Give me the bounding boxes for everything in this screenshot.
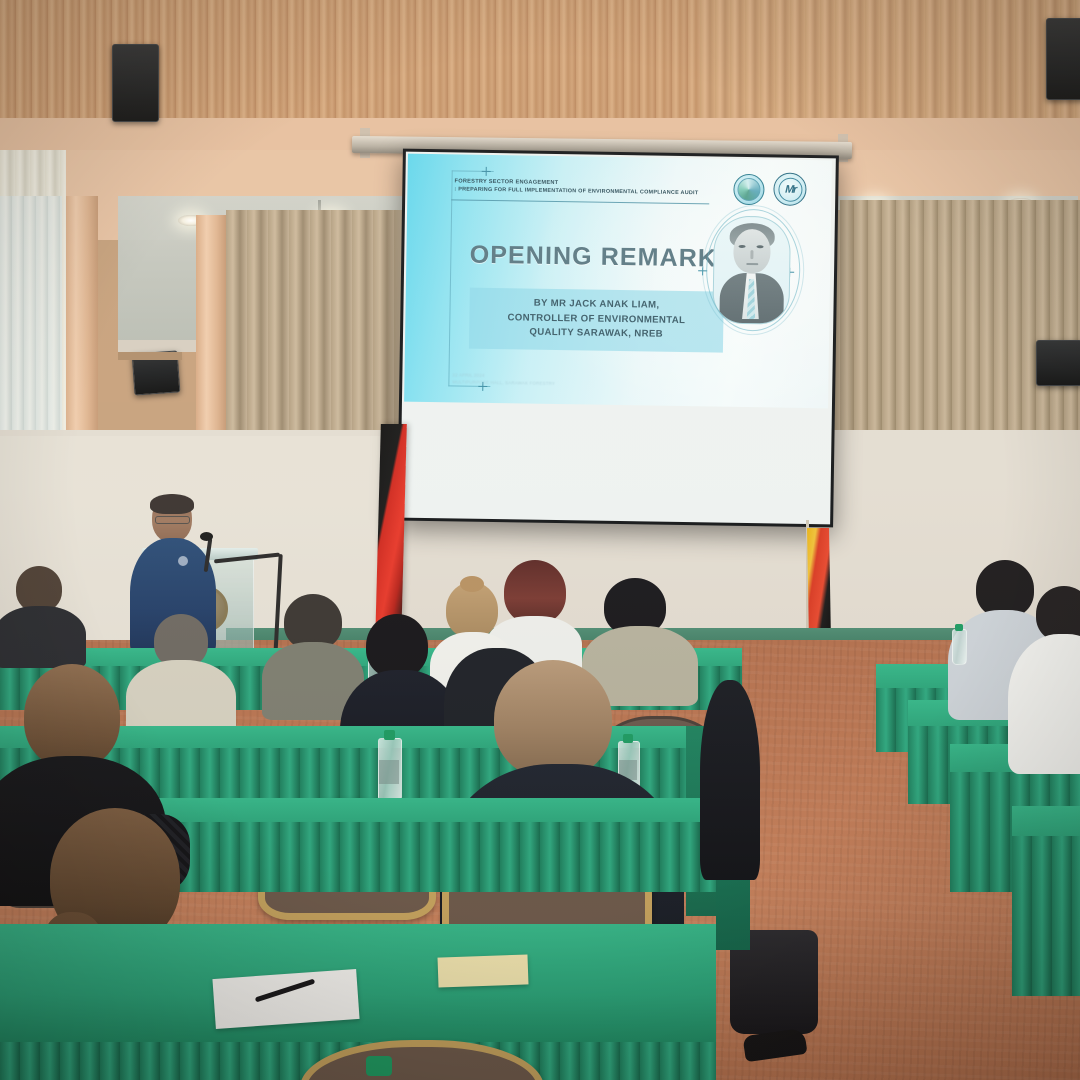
slide-footer: 22 APRIL 2024 MULTIPURPOSE HALL, SARAWAK… [452, 372, 612, 388]
attendee-hair [24, 664, 120, 768]
conference-hall-photo: FORESTRY SECTOR ENGAGEMENT : PREPARING F… [0, 0, 1080, 1080]
shirt-badge [178, 556, 188, 566]
attendee-hair [504, 560, 566, 624]
speaker-hair [150, 494, 194, 514]
speaker-bracket [118, 352, 182, 360]
presentation-slide: FORESTRY SECTOR ENGAGEMENT : PREPARING F… [404, 154, 832, 409]
wall-pilaster-mid [196, 215, 226, 465]
wall-speaker-icon [1036, 340, 1080, 386]
slide-speaker-block: BY MR JACK ANAK LIAM, CONTROLLER OF ENVI… [469, 288, 724, 353]
wall-speaker-icon [1046, 18, 1080, 100]
table-row [1012, 806, 1080, 840]
paper-sheet [212, 969, 359, 1029]
hair-bun [460, 576, 484, 592]
wall-speaker-icon [112, 44, 159, 122]
attendee-head [494, 660, 612, 778]
glasses-icon [155, 516, 190, 524]
wall-pilaster-left [64, 196, 98, 446]
attendee-body [700, 680, 760, 880]
slide-title: OPENING REMARK [468, 241, 718, 274]
attendee-head [366, 614, 428, 678]
front-table-top [0, 924, 716, 1042]
slide-header-line1: FORESTRY SECTOR ENGAGEMENT [454, 178, 558, 186]
wood-slat-ceiling-right [700, 0, 1080, 135]
slide-plus-mark [482, 171, 491, 172]
microphone-head [200, 532, 213, 541]
logo-monogram: Mr [783, 183, 796, 195]
attendee-body [0, 606, 86, 668]
flag-right [807, 528, 831, 640]
yellow-card [438, 954, 529, 987]
table-skirt [1012, 836, 1080, 996]
